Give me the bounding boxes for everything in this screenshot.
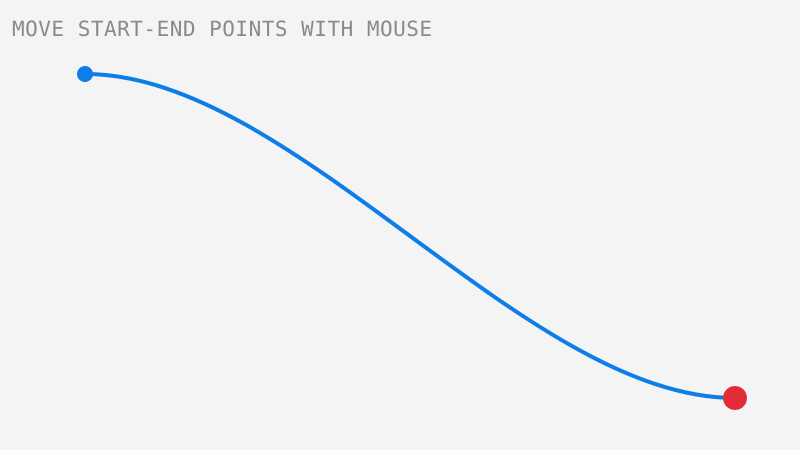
bezier-canvas-stage: MOVE START-END POINTS WITH MOUSE <box>0 0 800 450</box>
canvas-background <box>0 0 800 450</box>
start-point-handle[interactable] <box>77 66 93 82</box>
page-title: MOVE START-END POINTS WITH MOUSE <box>12 17 433 41</box>
end-point-handle[interactable] <box>723 386 747 410</box>
bezier-canvas[interactable] <box>0 0 800 450</box>
